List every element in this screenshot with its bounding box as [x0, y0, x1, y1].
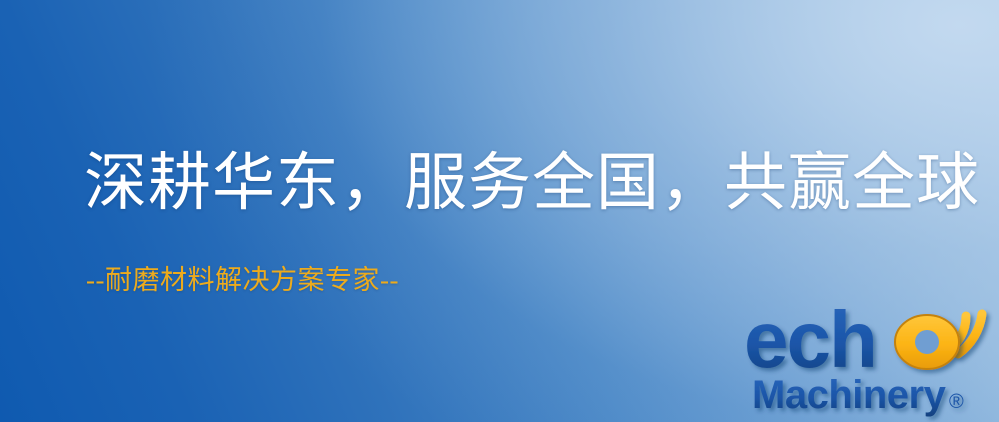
- logo-tagline-machinery: Machinery: [752, 373, 947, 417]
- banner-subtitle: --耐磨材料解决方案专家--: [86, 266, 399, 296]
- promo-banner: 深耕华东，服务全国，共赢全球 --耐磨材料解决方案专家--: [0, 0, 999, 422]
- logo-wordmark-echo: ech: [744, 295, 876, 384]
- logo-registered-mark: ®: [949, 391, 964, 413]
- echo-machinery-logo: ech Machinery ®: [744, 292, 999, 422]
- logo-letter-o: [895, 315, 959, 369]
- banner-headline: 深耕华东，服务全国，共赢全球: [84, 150, 980, 216]
